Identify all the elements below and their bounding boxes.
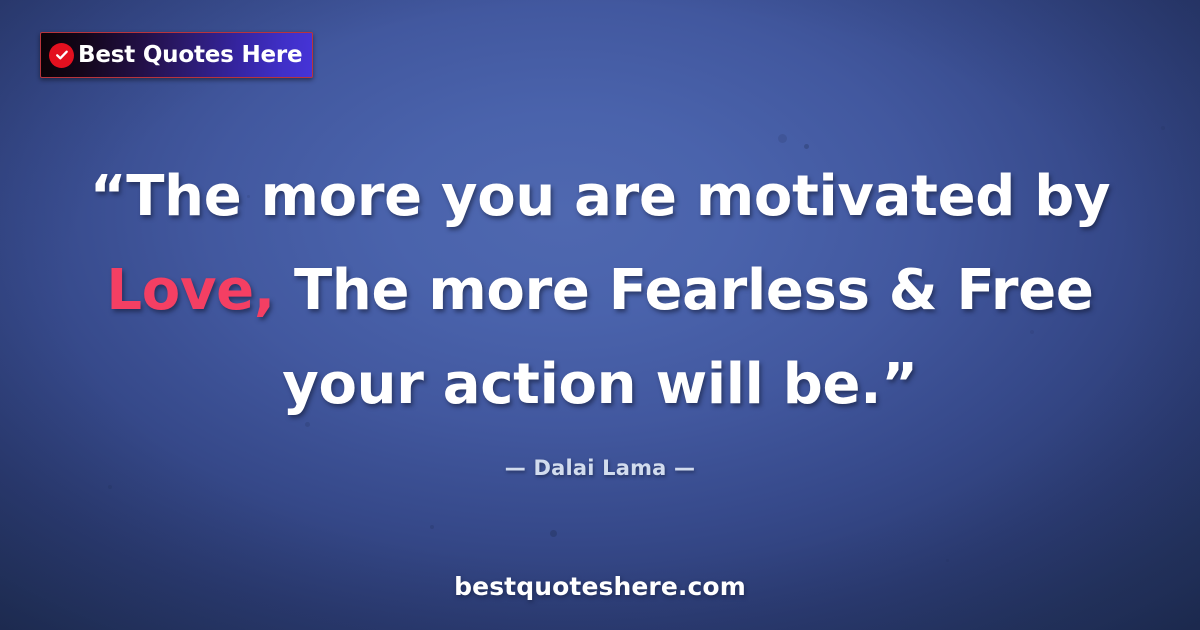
- quote-line-3-text: your action will be.”: [282, 352, 917, 417]
- brand-badge[interactable]: Best Quotes Here: [40, 32, 313, 78]
- quote-line-2: Love, The more Fearless & Free: [0, 244, 1200, 338]
- brand-badge-label: Best Quotes Here: [78, 44, 302, 67]
- quote-line-1-text: “The more you are motivated by: [90, 164, 1111, 229]
- quote-card: Best Quotes Here “The more you are motiv…: [0, 0, 1200, 630]
- quote-line-1: “The more you are motivated by: [0, 150, 1200, 244]
- background-speck: [804, 144, 809, 149]
- background-speck: [550, 530, 557, 537]
- check-circle-icon: [49, 43, 74, 68]
- site-url: bestquoteshere.com: [0, 572, 1200, 601]
- background-speck: [108, 485, 112, 489]
- quote-attribution: — Dalai Lama —: [0, 456, 1200, 480]
- quote-line-3: your action will be.”: [0, 338, 1200, 432]
- quote-text: “The more you are motivated by Love, The…: [0, 150, 1200, 432]
- quote-accent-word: Love,: [106, 258, 274, 323]
- background-speck: [946, 559, 949, 562]
- background-speck: [778, 134, 787, 143]
- quote-line-2-text: The more Fearless & Free: [275, 258, 1094, 323]
- background-speck: [430, 525, 434, 529]
- background-speck: [1161, 126, 1165, 130]
